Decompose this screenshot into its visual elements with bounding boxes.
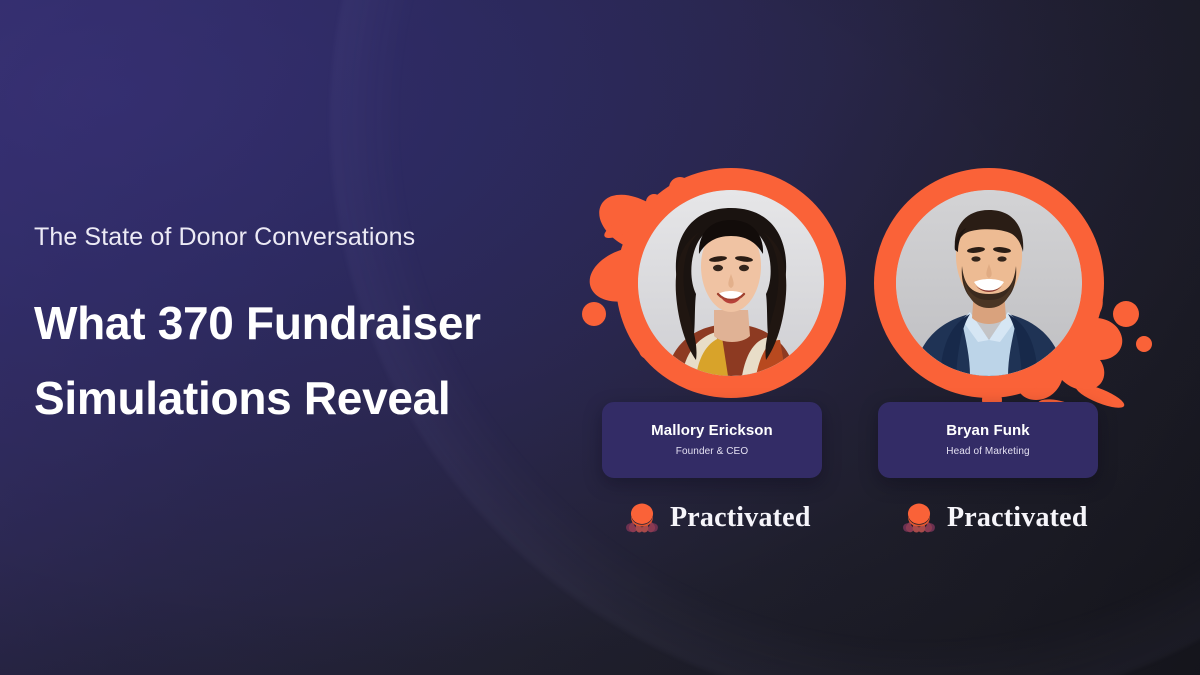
brand-lockup: Practivated — [623, 498, 811, 538]
speaker-name: Mallory Erickson — [651, 422, 773, 440]
avatar — [638, 190, 824, 376]
octopus-icon — [900, 501, 938, 535]
speaker-name-card: Bryan Funk Head of Marketing — [878, 402, 1098, 478]
brand-name: Practivated — [670, 504, 811, 532]
brand-lockup: Practivated — [900, 498, 1088, 538]
avatar — [896, 190, 1082, 376]
octopus-icon — [623, 501, 661, 535]
speaker-role: Founder & CEO — [676, 446, 748, 458]
speaker-list: Mallory Erickson Founder & CEO — [0, 0, 1200, 675]
speaker-name: Bryan Funk — [946, 422, 1030, 440]
brand-name: Practivated — [947, 504, 1088, 532]
presentation-slide: The State of Donor Conversations What 37… — [0, 0, 1200, 675]
speaker-name-card: Mallory Erickson Founder & CEO — [602, 402, 822, 478]
speaker-role: Head of Marketing — [946, 446, 1029, 458]
avatar-ring — [874, 168, 1104, 398]
avatar-ring — [616, 168, 846, 398]
